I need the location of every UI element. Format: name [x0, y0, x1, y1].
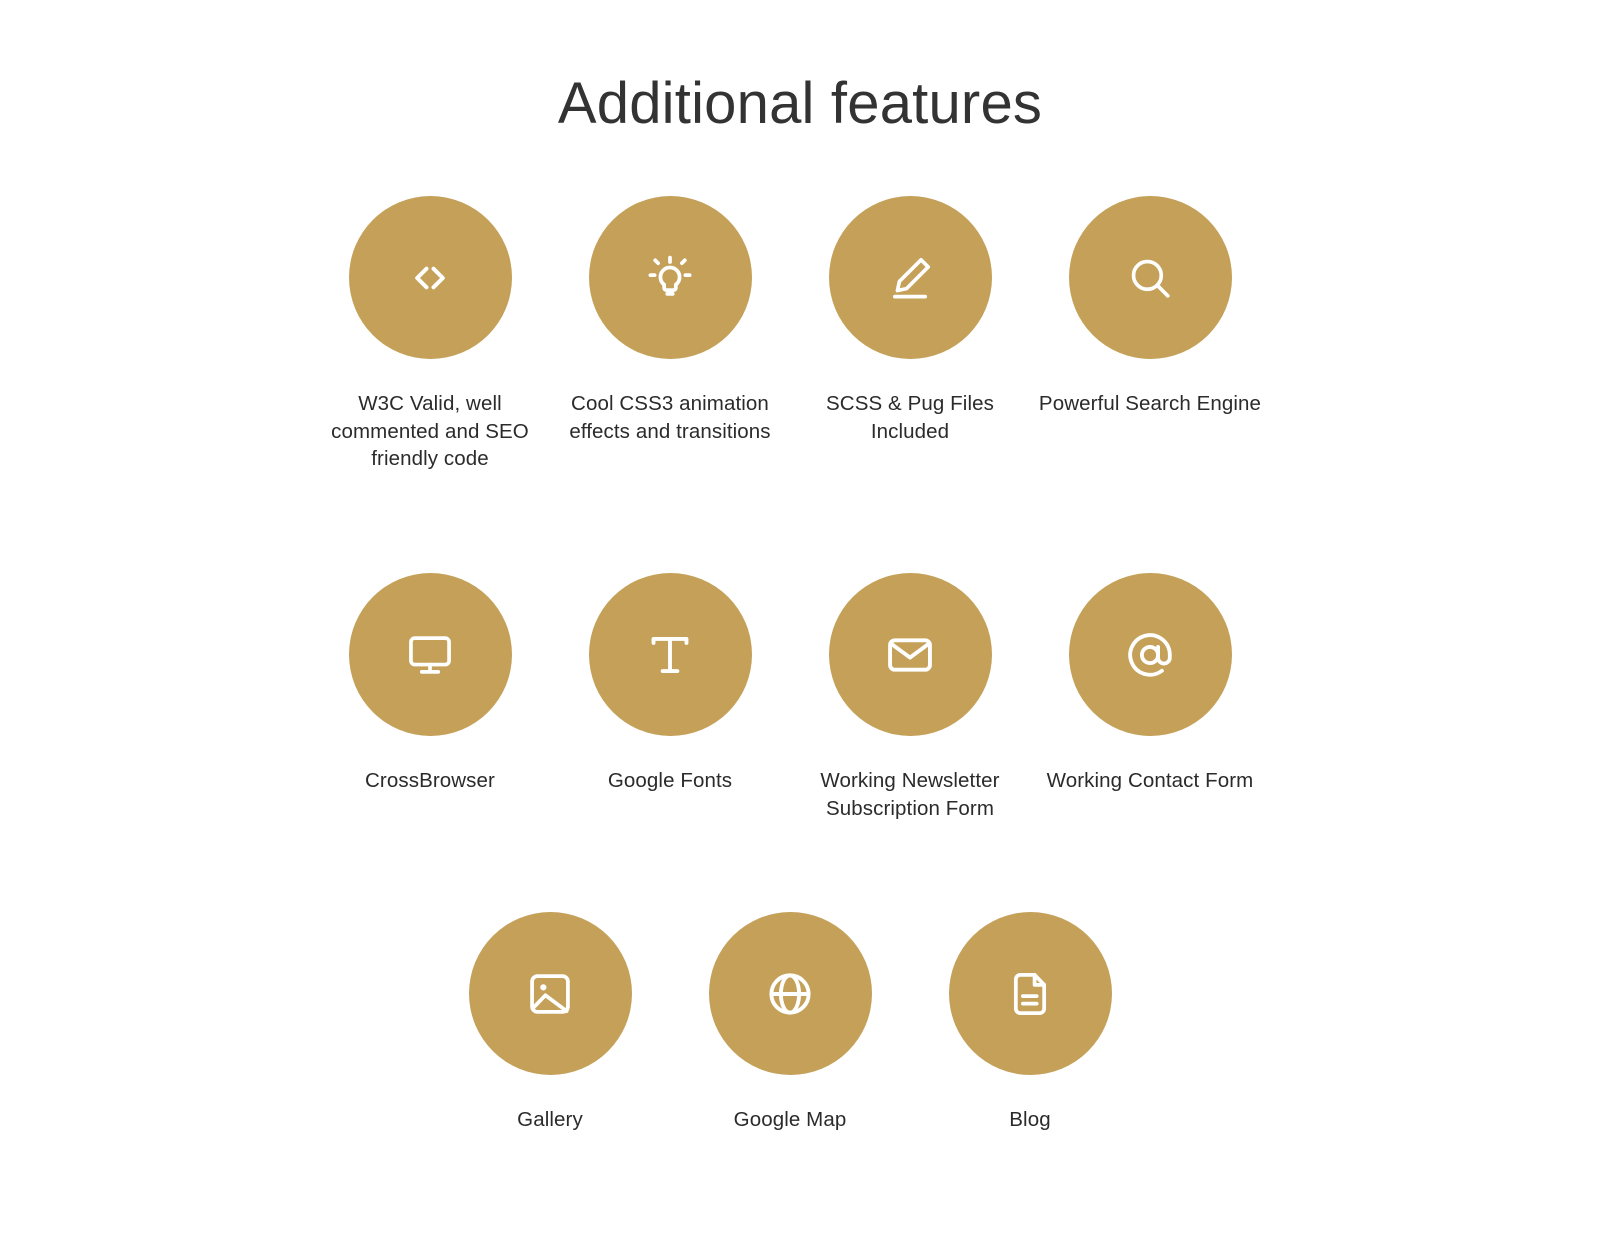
feature-item-google-fonts[interactable]: Google Fonts [550, 573, 790, 822]
document-file-icon [1005, 969, 1055, 1019]
feature-item-scss-pug[interactable]: SCSS & Pug Files Included [790, 196, 1030, 473]
features-grid: W3C Valid, well commented and SEO friend… [310, 196, 1270, 1134]
feature-item-gallery[interactable]: Gallery [430, 912, 670, 1134]
feature-item-blog[interactable]: Blog [910, 912, 1150, 1134]
typography-letter-t-icon [644, 629, 696, 681]
page-title: Additional features [0, 72, 1600, 136]
features-row-2: CrossBrowser Google Fonts [310, 573, 1270, 822]
feature-icon-circle[interactable] [1069, 573, 1232, 736]
feature-label: W3C Valid, well commented and SEO friend… [318, 390, 542, 473]
feature-item-newsletter-form[interactable]: Working Newsletter Subscription Form [790, 573, 1030, 822]
additional-features-page: Additional features W3C Valid, well comm… [0, 0, 1600, 1242]
code-brackets-icon [402, 250, 458, 306]
feature-icon-circle[interactable] [469, 912, 632, 1075]
feature-label: SCSS & Pug Files Included [798, 390, 1022, 445]
feature-icon-circle[interactable] [949, 912, 1112, 1075]
feature-icon-circle[interactable] [589, 573, 752, 736]
feature-label: Working Newsletter Subscription Form [798, 767, 1022, 822]
feature-label: Blog [1009, 1106, 1050, 1134]
feature-icon-circle[interactable] [349, 196, 512, 359]
feature-item-contact-form[interactable]: Working Contact Form [1030, 573, 1270, 822]
image-picture-icon [525, 969, 575, 1019]
feature-icon-circle[interactable] [1069, 196, 1232, 359]
row-spacer [310, 473, 1270, 573]
feature-icon-circle[interactable] [709, 912, 872, 1075]
lightbulb-idea-icon [645, 253, 695, 303]
feature-label: CrossBrowser [365, 767, 495, 795]
feature-label: Google Fonts [608, 767, 732, 795]
row-spacer [310, 822, 1270, 912]
magnifier-search-icon [1124, 252, 1176, 304]
features-row-3: Gallery Google Map [310, 912, 1270, 1134]
feature-item-search-engine[interactable]: Powerful Search Engine [1030, 196, 1270, 473]
globe-icon [764, 968, 816, 1020]
feature-label: Working Contact Form [1047, 767, 1254, 795]
pencil-edit-icon [884, 252, 936, 304]
envelope-mail-icon [884, 629, 936, 681]
feature-icon-circle[interactable] [349, 573, 512, 736]
feature-label: Google Map [734, 1106, 847, 1134]
feature-item-crossbrowser[interactable]: CrossBrowser [310, 573, 550, 822]
feature-icon-circle[interactable] [829, 196, 992, 359]
features-row-1: W3C Valid, well commented and SEO friend… [310, 196, 1270, 473]
desktop-monitor-icon [404, 629, 456, 681]
feature-icon-circle[interactable] [589, 196, 752, 359]
feature-item-google-map[interactable]: Google Map [670, 912, 910, 1134]
feature-label: Gallery [517, 1106, 583, 1134]
feature-item-w3c-valid[interactable]: W3C Valid, well commented and SEO friend… [310, 196, 550, 473]
feature-item-css3-animation[interactable]: Cool CSS3 animation effects and transiti… [550, 196, 790, 473]
feature-label: Powerful Search Engine [1039, 390, 1261, 418]
feature-label: Cool CSS3 animation effects and transiti… [558, 390, 782, 445]
feature-icon-circle[interactable] [829, 573, 992, 736]
at-sign-icon [1123, 628, 1177, 682]
